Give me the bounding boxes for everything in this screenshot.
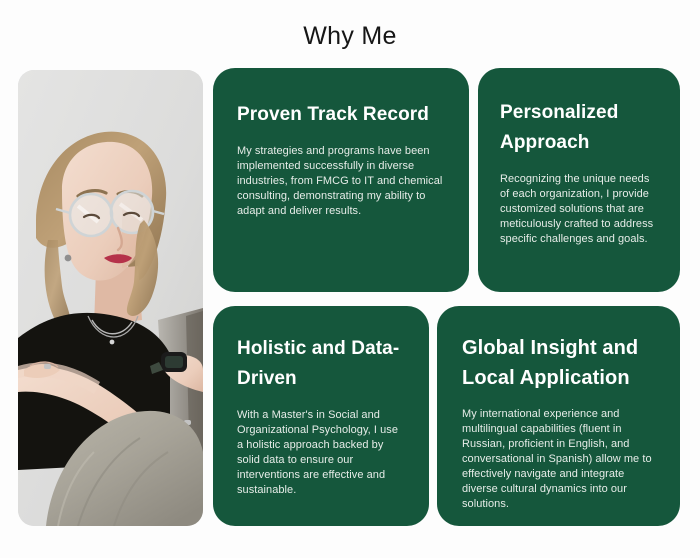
card-body: My international experience and multilin… — [462, 407, 656, 512]
card-holistic-and-data-driven[interactable]: Holistic and Data-Driven With a Master's… — [213, 306, 429, 526]
card-global-insight-and-local-application[interactable]: Global Insight and Local Application My … — [437, 306, 680, 526]
card-body: Recognizing the unique needs of each org… — [500, 172, 658, 247]
portrait-photo — [18, 70, 203, 526]
card-body: My strategies and programs have been imp… — [237, 144, 443, 219]
card-body: With a Master's in Social and Organizati… — [237, 408, 407, 498]
card-heading: Personalized Approach — [500, 98, 658, 158]
card-proven-track-record[interactable]: Proven Track Record My strategies and pr… — [213, 68, 469, 292]
card-heading: Global Insight and Local Application — [462, 333, 656, 393]
card-personalized-approach[interactable]: Personalized Approach Recognizing the un… — [478, 68, 680, 292]
portrait-photo-illustration — [18, 70, 203, 526]
card-heading: Holistic and Data-Driven — [237, 334, 407, 394]
page-title: Why Me — [0, 20, 700, 52]
card-heading: Proven Track Record — [237, 100, 443, 130]
